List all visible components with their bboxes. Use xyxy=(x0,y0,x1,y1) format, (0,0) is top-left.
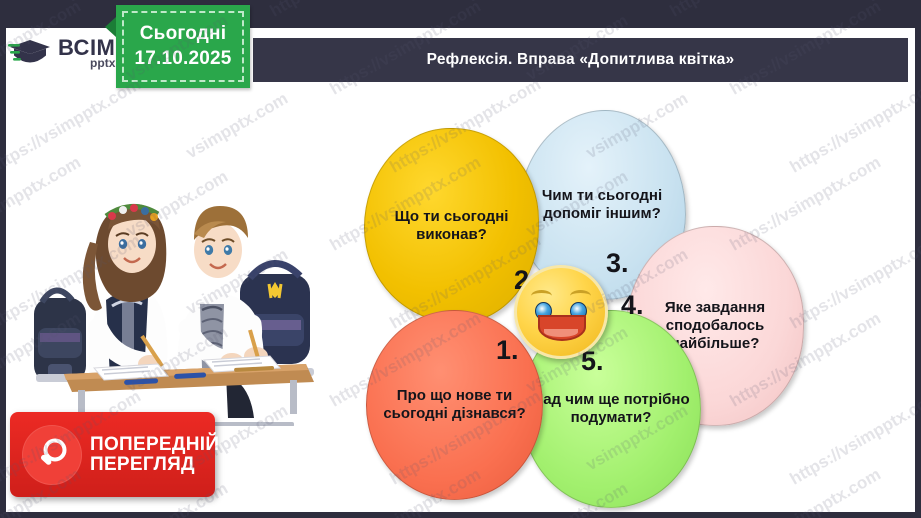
petal-3-text: Чим ти сьогодні допоміг іншим? xyxy=(519,187,685,223)
petal-1-number: 1. xyxy=(496,337,519,364)
watermark-text: vsimpptx.com xyxy=(463,0,572,7)
magnifier-icon xyxy=(22,425,82,485)
preview-button-label: ПОПЕРЕДНІЙ ПЕРЕГЛЯД xyxy=(90,435,219,475)
petal-1-text: Про що нове ти сьогодні дізнався? xyxy=(367,387,542,423)
smiley-brow-right xyxy=(570,290,591,302)
flower-petal-2[interactable]: Що ти сьогодні виконав? xyxy=(364,128,539,323)
slide-title-bar: Рефлексія. Вправа «Допитлива квітка» xyxy=(253,38,908,82)
watermark-text: https://vsimpptx.com xyxy=(266,0,424,21)
date-badge: Сьогодні 17.10.2025 xyxy=(116,5,250,88)
date-badge-inner: Сьогодні 17.10.2025 xyxy=(122,11,244,82)
petal-2-text: Що ти сьогодні виконав? xyxy=(365,208,538,244)
watermark-text: https://vsimpptx.com xyxy=(666,0,824,21)
page-title: Рефлексія. Вправа «Допитлива квітка» xyxy=(427,51,735,69)
students-illustration xyxy=(28,178,328,426)
preview-label-line2: ПЕРЕГЛЯД xyxy=(90,455,219,475)
date-badge-value: 17.10.2025 xyxy=(134,48,231,70)
petal-5-text: Над чим ще потрібно подумати? xyxy=(522,391,700,427)
graduation-cap-icon xyxy=(8,36,54,70)
smiley-brow-left xyxy=(531,290,552,302)
watermark-text: https://vsimpptx.com xyxy=(0,0,25,21)
brand-wordmark: ВСІМ pptx xyxy=(58,37,115,69)
petal-3-number: 3. xyxy=(606,250,629,277)
slide-viewer: Чим ти сьогодні допоміг іншим? Що ти сьо… xyxy=(0,0,921,518)
preview-label-line1: ПОПЕРЕДНІЙ xyxy=(90,435,219,455)
smiley-mouth xyxy=(538,315,586,341)
petal-4-number: 4. xyxy=(621,292,644,319)
date-badge-label: Сьогодні xyxy=(140,23,226,45)
watermark-text: vsimpptx.com xyxy=(863,0,921,7)
smiley-face-icon xyxy=(514,265,608,359)
reflection-flower-diagram: Чим ти сьогодні допоміг іншим? Що ти сьо… xyxy=(336,110,836,512)
preview-button[interactable]: ПОПЕРЕДНІЙ ПЕРЕГЛЯД xyxy=(10,412,215,497)
slide-canvas: Чим ти сьогодні допоміг іншим? Що ти сьо… xyxy=(6,28,915,512)
